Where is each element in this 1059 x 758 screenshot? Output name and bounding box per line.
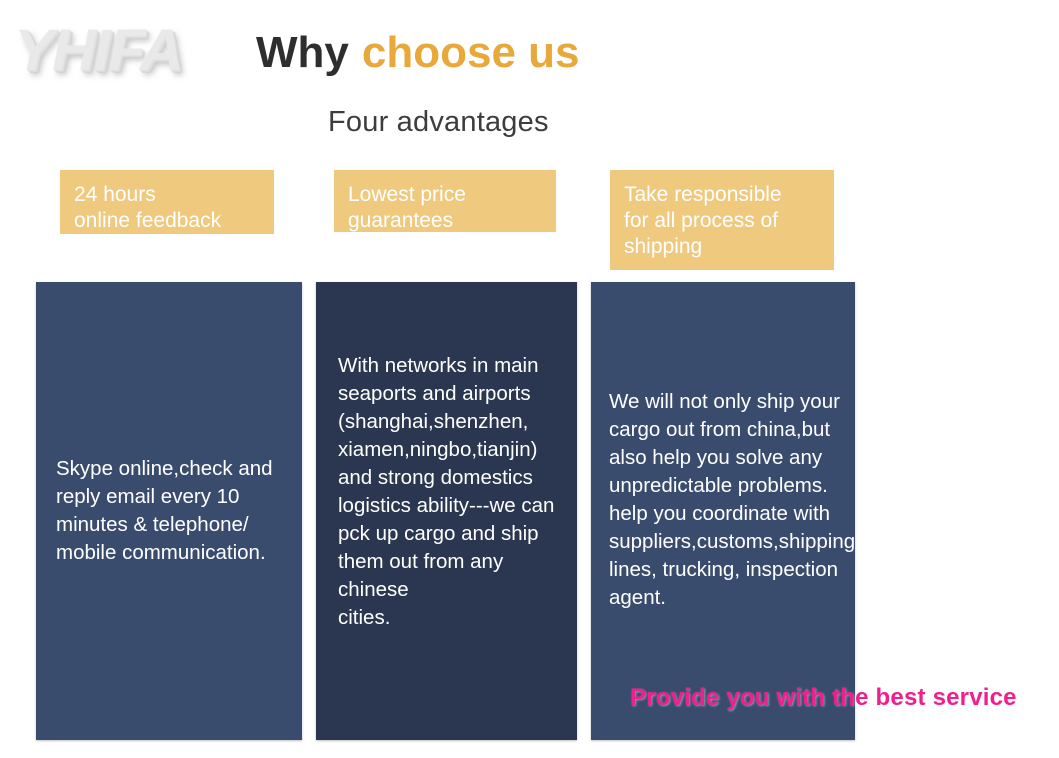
company-logo: YHIFA	[14, 17, 181, 84]
advantage-panel-3: We will not only ship your cargo out fro…	[591, 282, 855, 740]
slide-canvas: { "brand": { "logo_text": "YHIFA" }, "he…	[0, 0, 1059, 758]
page-title-primary: Why	[256, 28, 349, 77]
advantage-panel-1: Skype online,check and reply email every…	[36, 282, 302, 740]
advantage-tag-1: 24 hours online feedback	[60, 170, 274, 234]
service-tagline: Provide you with the best service	[630, 684, 1017, 712]
advantage-panel-3-text: We will not only ship your cargo out fro…	[591, 388, 855, 612]
advantage-panel-2-text: With networks in main seaports and airpo…	[316, 352, 577, 632]
page-title-accent: choose us	[362, 28, 580, 77]
advantage-tag-2: Lowest price guarantees	[334, 170, 556, 232]
advantage-panel-2: With networks in main seaports and airpo…	[316, 282, 577, 740]
page-title: Whychoose us	[256, 31, 580, 75]
page-subtitle: Four advantages	[328, 106, 549, 139]
advantage-tag-3: Take responsible for all process of ship…	[610, 170, 834, 270]
advantage-panel-1-text: Skype online,check and reply email every…	[36, 455, 302, 567]
